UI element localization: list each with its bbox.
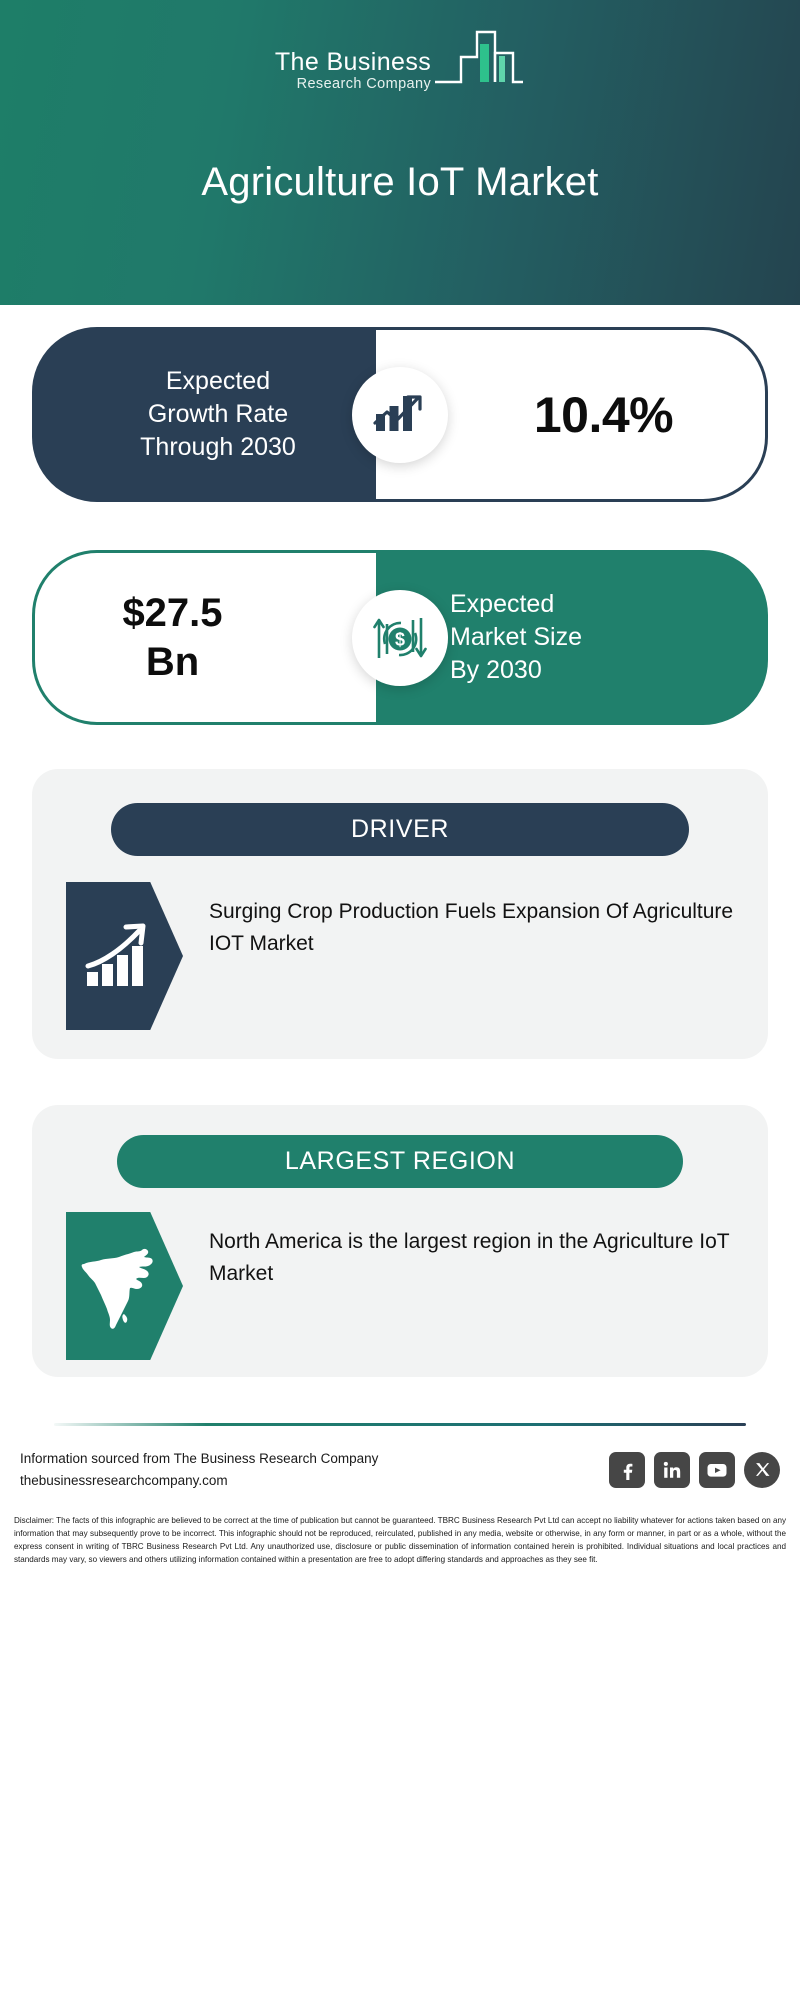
svg-text:$: $ bbox=[395, 629, 405, 649]
growth-chart-arrow-icon bbox=[352, 367, 448, 463]
logo-text: The Business Research Company bbox=[275, 49, 431, 97]
market-size-value-panel: $27.5 Bn bbox=[32, 550, 376, 725]
growth-rate-label-panel: Expected Growth Rate Through 2030 bbox=[32, 327, 376, 502]
market-size-value-line-2: Bn bbox=[122, 638, 222, 687]
largest-region-badge: LARGEST REGION bbox=[117, 1135, 683, 1188]
disclaimer-text: Disclaimer: The facts of this infographi… bbox=[0, 1514, 800, 1566]
market-size-value-line-1: $27.5 bbox=[122, 589, 222, 638]
company-logo: The Business Research Company bbox=[0, 28, 800, 97]
facebook-icon[interactable] bbox=[609, 1452, 645, 1488]
footer: Information sourced from The Business Re… bbox=[0, 1377, 800, 1566]
growth-label-line-1: Expected bbox=[140, 365, 296, 398]
footer-source-line-1: Information sourced from The Business Re… bbox=[20, 1448, 378, 1470]
driver-panel: DRIVER Surging Crop Production Fuels Exp… bbox=[32, 769, 768, 1059]
dollar-circulation-icon: $ bbox=[352, 590, 448, 686]
market-size-card: $27.5 Bn Expected Market Size By 2030 $ bbox=[0, 502, 800, 725]
north-america-map-icon bbox=[66, 1212, 183, 1360]
x-twitter-icon[interactable] bbox=[744, 1452, 780, 1488]
growth-bars-arrow-icon bbox=[66, 882, 183, 1030]
page-title: Agriculture IoT Market bbox=[0, 160, 800, 205]
header-banner: The Business Research Company Agricultur… bbox=[0, 0, 800, 305]
largest-region-text: North America is the largest region in t… bbox=[209, 1212, 734, 1290]
linkedin-icon[interactable] bbox=[654, 1452, 690, 1488]
growth-rate-value: 10.4% bbox=[468, 386, 673, 444]
footer-divider bbox=[54, 1423, 746, 1426]
size-label-line-1: Expected bbox=[450, 588, 754, 621]
size-label-line-2: Market Size bbox=[450, 621, 754, 654]
driver-badge: DRIVER bbox=[111, 803, 689, 856]
market-size-value: $27.5 Bn bbox=[122, 589, 288, 687]
footer-website-link[interactable]: thebusinessresearchcompany.com bbox=[20, 1470, 378, 1492]
bar-chart-logo-mark bbox=[433, 28, 525, 95]
growth-rate-label: Expected Growth Rate Through 2030 bbox=[106, 365, 302, 465]
growth-label-line-2: Growth Rate bbox=[140, 398, 296, 431]
largest-region-panel: LARGEST REGION North America is the larg… bbox=[32, 1105, 768, 1377]
growth-rate-card: Expected Growth Rate Through 2030 10.4% bbox=[0, 305, 800, 502]
driver-text: Surging Crop Production Fuels Expansion … bbox=[209, 882, 734, 960]
size-label-line-3: By 2030 bbox=[450, 654, 754, 687]
youtube-icon[interactable] bbox=[699, 1452, 735, 1488]
logo-title: The Business bbox=[275, 49, 431, 75]
social-links bbox=[609, 1452, 780, 1488]
growth-label-line-3: Through 2030 bbox=[140, 431, 296, 464]
footer-source: Information sourced from The Business Re… bbox=[20, 1448, 378, 1492]
logo-subtitle: Research Company bbox=[275, 76, 431, 93]
